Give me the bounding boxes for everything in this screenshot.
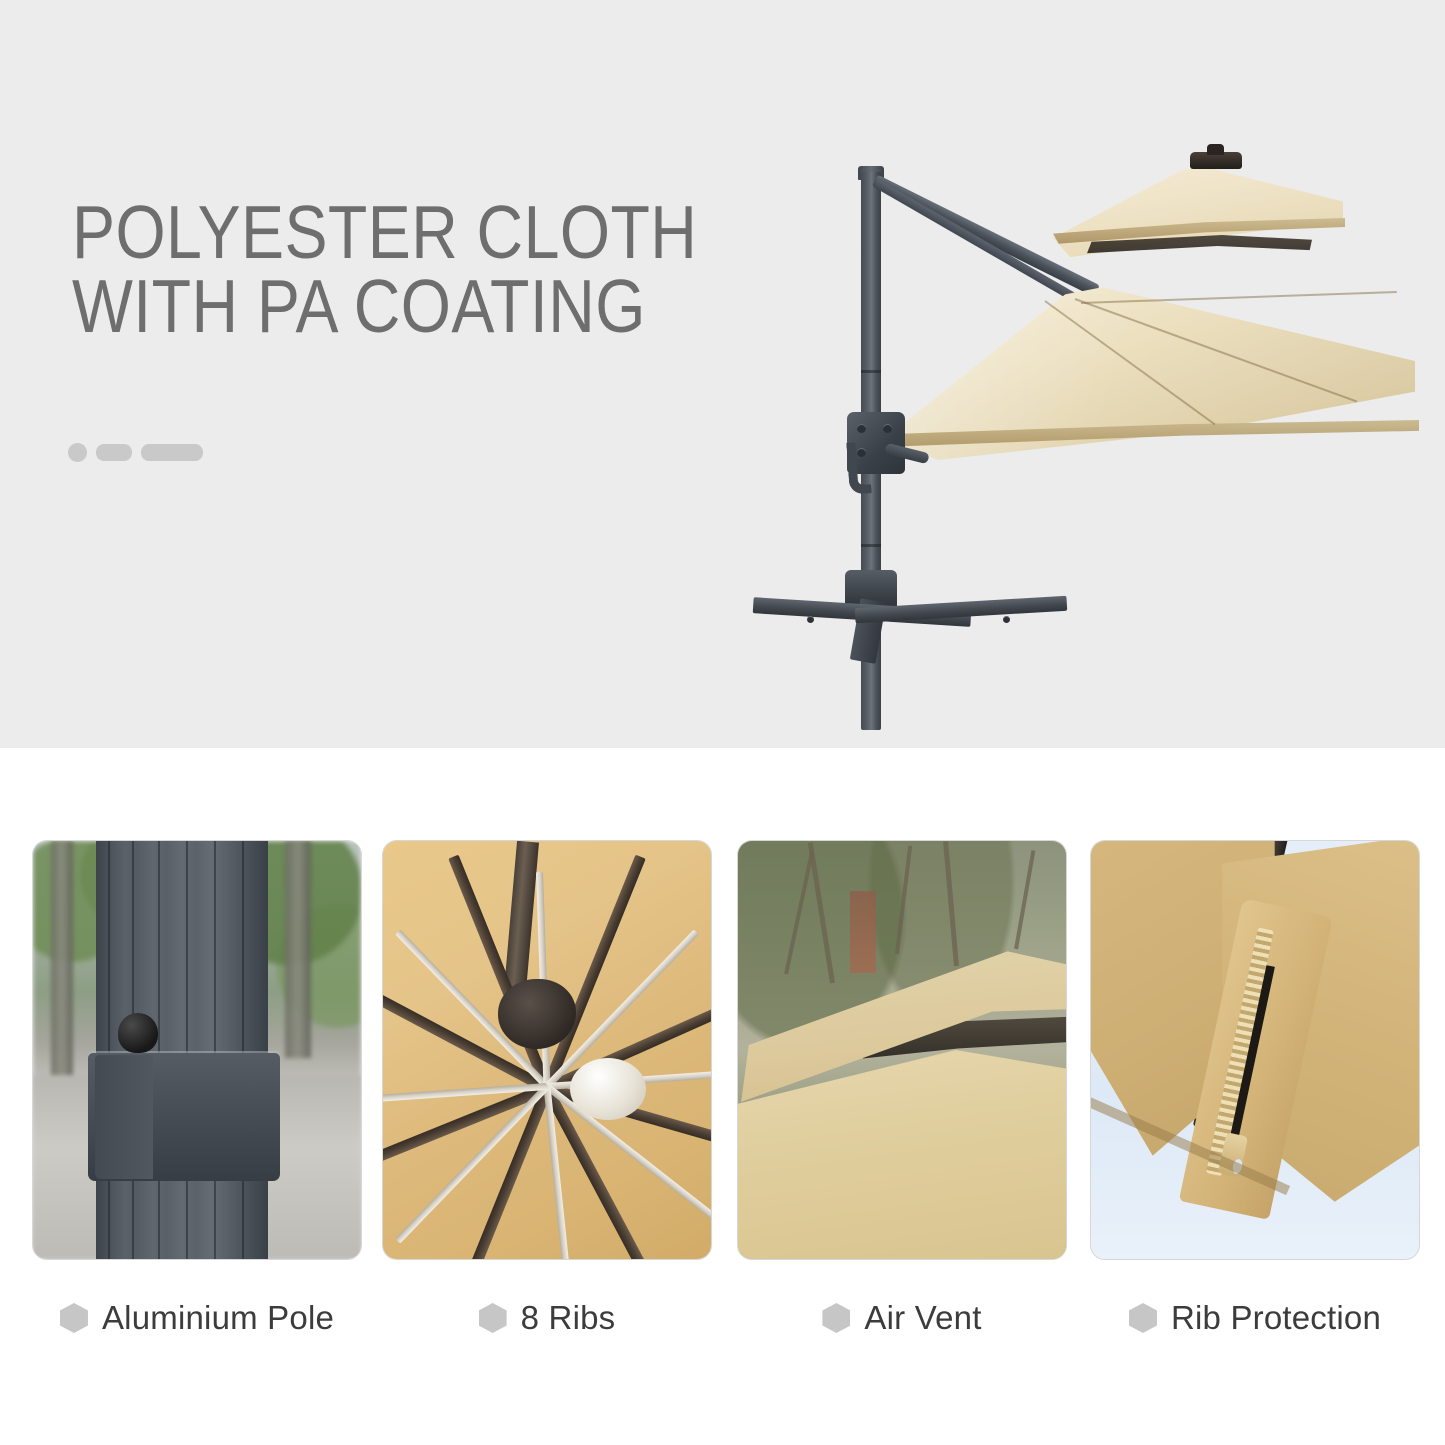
pagination-pill-small-icon[interactable] <box>96 444 132 461</box>
pole-seam <box>861 544 881 547</box>
hero-panel: POLYESTER CLOTH WITH PA COATING <box>0 0 1445 748</box>
caption-label: 8 Ribs <box>521 1299 616 1337</box>
hexagon-bullet-icon <box>479 1303 507 1333</box>
caption-label: Rib Protection <box>1171 1299 1381 1337</box>
pole-adjust-knob <box>118 1013 158 1053</box>
hub-bolt <box>883 424 892 433</box>
caption-air-vent: Air Vent <box>737 1288 1067 1348</box>
thumbnail-rib-protection[interactable] <box>1090 840 1420 1260</box>
product-feature-page: POLYESTER CLOTH WITH PA COATING <box>0 0 1445 1445</box>
rib-center-cap <box>570 1058 646 1120</box>
background-chimney <box>850 891 876 973</box>
thumbnail-aluminium-pole[interactable] <box>32 840 362 1260</box>
cantilever-umbrella-illustration <box>735 130 1415 690</box>
base-screw <box>1003 616 1010 623</box>
canopy-finial-knob <box>1207 144 1224 155</box>
hexagon-bullet-icon <box>1129 1303 1157 1333</box>
page-title: POLYESTER CLOTH WITH PA COATING <box>72 196 726 343</box>
hexagon-bullet-icon <box>822 1303 850 1333</box>
background-tree-trunk <box>285 841 311 1058</box>
feature-thumbnail-row <box>0 840 1445 1260</box>
pole-seam <box>861 370 881 373</box>
caption-eight-ribs: 8 Ribs <box>382 1288 712 1348</box>
feature-caption-row: Aluminium Pole 8 Ribs Air Vent Rib Prote… <box>0 1288 1445 1358</box>
pagination-dots[interactable] <box>68 443 203 462</box>
pagination-pill-large-icon[interactable] <box>141 444 203 461</box>
caption-label: Air Vent <box>864 1299 981 1337</box>
base-screw <box>807 616 814 623</box>
rib-hub <box>498 979 576 1049</box>
background-tree-trunk <box>51 841 73 1083</box>
hub-bolt <box>857 424 866 433</box>
thumbnail-air-vent[interactable] <box>737 840 1067 1260</box>
caption-label: Aluminium Pole <box>102 1299 334 1337</box>
tilt-hook <box>846 441 872 494</box>
pole-collar-face <box>95 1055 153 1179</box>
thumbnail-eight-ribs[interactable] <box>382 840 712 1260</box>
pagination-dot-icon[interactable] <box>68 443 87 462</box>
caption-aluminium-pole: Aluminium Pole <box>32 1288 362 1348</box>
aluminium-pole-body <box>96 840 268 1260</box>
hexagon-bullet-icon <box>60 1303 88 1333</box>
caption-rib-protection: Rib Protection <box>1090 1288 1420 1348</box>
